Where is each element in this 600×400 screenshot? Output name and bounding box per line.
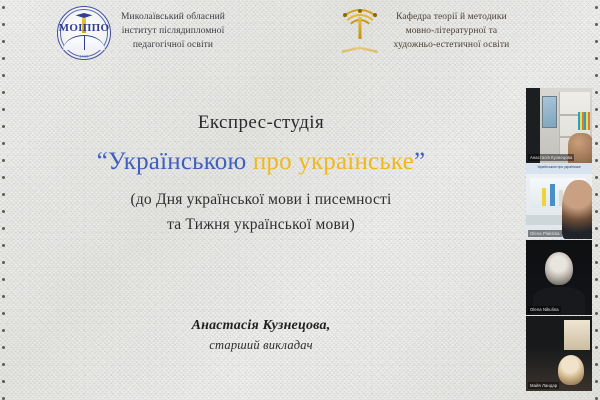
institute-name-line-3: педагогічної освіти — [121, 39, 225, 53]
edge-dot — [595, 176, 598, 179]
edge-dot — [595, 346, 598, 349]
participant-tile-4[interactable]: Майя Ландар — [526, 316, 592, 391]
edge-dot — [2, 312, 5, 315]
edge-dot — [2, 108, 5, 111]
edge-dot — [2, 295, 5, 298]
edge-dot — [595, 261, 598, 264]
header-right-block: Кафедра теорії й методики мовно-літерату… — [322, 4, 600, 74]
participant-name-4: Майя Ландар — [528, 382, 559, 389]
presenter-name: Анастасія Кузнецова, — [0, 318, 522, 334]
eyebrow-text: Експрес-студія — [0, 112, 522, 134]
edge-dot — [2, 244, 5, 247]
edge-dot — [2, 380, 5, 383]
video-participants-strip: Анастасія Кузнецова Українською про укра… — [526, 88, 592, 392]
participant-tile-2[interactable]: Українською про українське Olena Plaksin… — [526, 164, 592, 239]
presenter-role: старший викладач — [0, 338, 522, 353]
title-close-quote: ” — [414, 148, 425, 175]
participant-name-1: Анастасія Кузнецова — [528, 154, 574, 161]
edge-dot — [595, 329, 598, 332]
slide-subtitle: (до Дня української мови і писемності та… — [0, 188, 522, 238]
edge-dot — [2, 91, 5, 94]
slide-title: “Українською про українське” — [0, 148, 522, 176]
slide-header: МОІППО 1939 Миколаївський обласний інсти… — [0, 4, 600, 74]
institute-name-line-1: Миколаївський обласний — [121, 11, 225, 25]
edge-dot — [595, 227, 598, 230]
edge-dot — [595, 91, 598, 94]
participant-tile-3[interactable]: Olena Nikulina — [526, 240, 592, 315]
edge-dot — [595, 363, 598, 366]
participant-banner-2: Українською про українське — [526, 164, 592, 174]
department-name: Кафедра теорії й методики мовно-літерату… — [386, 4, 510, 52]
slide-body: Експрес-студія “Українською про українсь… — [0, 112, 522, 238]
participant-video-4 — [526, 316, 592, 391]
institute-name-line-2: інститут післядипломної — [121, 25, 225, 39]
header-left-block: МОІППО 1939 Миколаївський обласний інсти… — [0, 4, 322, 74]
moippo-year: 1939 — [55, 54, 113, 59]
edge-dot — [595, 108, 598, 111]
department-name-line-1: Кафедра теорії й методики — [394, 11, 510, 25]
presentation-slide: МОІППО 1939 Миколаївський обласний інсти… — [0, 0, 600, 400]
edge-dot — [595, 312, 598, 315]
title-gold-part: про українське — [246, 148, 414, 175]
moippo-acronym: МОІППО — [55, 22, 113, 34]
edge-dot — [595, 380, 598, 383]
moippo-emblem-icon: МОІППО 1939 — [55, 4, 113, 62]
edge-dot — [2, 74, 5, 77]
edge-dot — [595, 159, 598, 162]
subtitle-line-2: та Тижня української мови) — [0, 213, 522, 238]
edge-dot — [595, 295, 598, 298]
participant-video-1 — [526, 88, 592, 163]
title-blue-part: Українською — [108, 148, 246, 175]
participant-video-2 — [526, 164, 592, 239]
presenter-block: Анастасія Кузнецова, старший викладач — [0, 318, 522, 353]
edge-dot — [595, 142, 598, 145]
edge-dot — [595, 74, 598, 77]
title-open-quote: “ — [97, 148, 108, 175]
participant-name-2: Olena Plaksina — [528, 230, 562, 237]
participant-name-3: Olena Nikulina — [528, 306, 561, 313]
edge-dot — [2, 278, 5, 281]
edge-dot — [595, 125, 598, 128]
participant-video-3 — [526, 240, 592, 315]
participant-tile-1[interactable]: Анастасія Кузнецова — [526, 88, 592, 163]
institute-name: Миколаївський обласний інститут післядип… — [113, 4, 225, 52]
edge-dot — [595, 193, 598, 196]
edge-dot — [2, 363, 5, 366]
department-name-line-3: художньо-естетичної освіти — [394, 39, 510, 53]
department-name-line-2: мовно-літературної та — [394, 25, 510, 39]
edge-dot — [595, 210, 598, 213]
kafedra-gold-emblem-icon — [334, 7, 386, 59]
subtitle-line-1: (до Дня української мови і писемності — [0, 188, 522, 213]
edge-dot — [2, 261, 5, 264]
edge-dot — [595, 278, 598, 281]
edge-dot — [595, 244, 598, 247]
